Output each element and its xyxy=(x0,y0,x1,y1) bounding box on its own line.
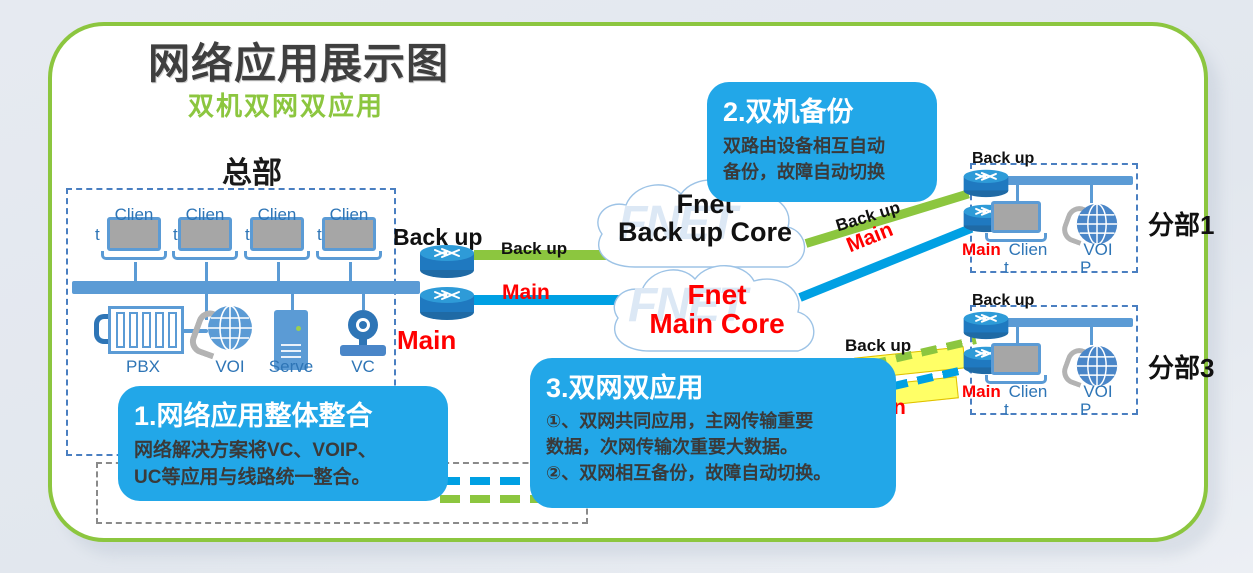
pbx-slot xyxy=(155,312,164,348)
hq-client-label-4b: t xyxy=(317,225,337,245)
branch3-client-label2: t xyxy=(1004,400,1024,420)
hq-router-main xyxy=(418,285,476,319)
branch3-router-backup-label: Back up xyxy=(972,292,1034,310)
globe-svg xyxy=(206,304,254,352)
hq-client-label-1: Clien xyxy=(101,205,167,225)
router-svg xyxy=(962,310,1010,340)
device-droplink xyxy=(291,294,294,310)
page-subtitle: 双机双网双应用 xyxy=(188,86,384,123)
branch3-backup-link-label: Back up xyxy=(845,336,911,356)
page-title: 网络应用展示图 xyxy=(148,30,449,91)
callout-3-body-line-1: ①、双网共同应用，主网传输重要 xyxy=(546,407,880,433)
client-droplink xyxy=(205,262,208,282)
server-line xyxy=(281,344,301,346)
client-label-line1: Clien xyxy=(330,205,369,224)
callout-1-body-line-2: UC等应用与线路统一整合。 xyxy=(134,462,432,489)
diagram-canvas: 网络应用展示图 双机双网双应用 总部 Clien t Clien t Clien… xyxy=(0,0,1253,573)
branch3-voip-label: VOI xyxy=(1070,382,1126,402)
hq-client-label-3b: t xyxy=(245,225,265,245)
voip-label-line1: VOI xyxy=(1083,382,1112,401)
branch1-voip-label: VOI xyxy=(1070,240,1126,260)
server-line xyxy=(281,350,301,352)
pbx-handset-icon xyxy=(94,314,108,344)
client-label-line1: Clien xyxy=(1009,240,1048,259)
hq-client-label-3: Clien xyxy=(244,205,310,225)
callout-1[interactable]: 1.网络应用整体整合 网络解决方案将VC、VOIP、 UC等应用与线路统一整合。 xyxy=(118,386,448,501)
camera-lens-inner xyxy=(359,321,367,329)
client-label-line2: t xyxy=(317,225,322,244)
client-label-line2: t xyxy=(1004,400,1009,419)
client-droplink xyxy=(277,262,280,282)
client-label-line1: Clien xyxy=(1009,382,1048,401)
branch3-voip-droplink xyxy=(1090,327,1093,345)
client-droplink xyxy=(349,262,352,282)
callout-3[interactable]: 3.双网双应用 ①、双网共同应用，主网传输重要 数据，次网传输次重要大数据。 ②… xyxy=(530,358,896,508)
hq-client-label-2: Clien xyxy=(172,205,238,225)
client-label-line1: Clien xyxy=(115,205,154,224)
router-svg xyxy=(418,285,476,321)
branch1-client-label2: t xyxy=(1004,258,1024,278)
hq-device-label-vc: VC xyxy=(328,357,398,377)
laptop-screen xyxy=(991,201,1041,233)
client-label-line2: t xyxy=(95,225,100,244)
hq-client-label-2b: t xyxy=(173,225,193,245)
branch3-title: 分部3 xyxy=(1148,348,1214,385)
client-label-line2: t xyxy=(1004,258,1009,277)
branch3-client-laptop xyxy=(985,343,1047,387)
headquarters-title: 总部 xyxy=(222,148,282,192)
headquarters-lan-bar xyxy=(72,281,420,294)
callout-2-body-line-2: 备份，故障自动切换 xyxy=(723,158,921,184)
branch1-router-backup-label: Back up xyxy=(972,150,1034,168)
pbx-slot xyxy=(168,312,177,348)
pbx-slot xyxy=(116,312,125,348)
laptop-base xyxy=(101,251,167,260)
camera-base xyxy=(340,345,386,356)
hq-backup-link-label: Back up xyxy=(501,239,567,259)
branch1-client-laptop xyxy=(985,201,1047,245)
callout-1-heading: 1.网络应用整体整合 xyxy=(134,394,432,433)
client-label-line2: t xyxy=(173,225,178,244)
router-svg xyxy=(418,243,476,279)
laptop-base xyxy=(244,251,310,260)
client-label-line2: t xyxy=(245,225,250,244)
hq-client-label-1b: t xyxy=(95,225,115,245)
cloud-label-line2: Main Core xyxy=(598,309,836,338)
voip-label-line1: VOI xyxy=(1083,240,1112,259)
pbx-slot xyxy=(129,312,138,348)
vc-camera-icon xyxy=(340,310,386,358)
branch1-voip-label2: P xyxy=(1080,258,1100,278)
device-droplink xyxy=(362,294,365,310)
laptop-base xyxy=(316,251,382,260)
router-svg xyxy=(962,168,1010,198)
callout-3-body-line-2: 数据，次网传输次重要大数据。 xyxy=(546,433,880,459)
hq-client-label-4: Clien xyxy=(316,205,382,225)
branch1-client-label: Clien xyxy=(1000,240,1056,260)
branch3-voip-label2: P xyxy=(1080,400,1100,420)
voip-globe-icon xyxy=(206,304,254,352)
callout-2-body-line-1: 双路由设备相互自动 xyxy=(723,132,921,158)
voip-label-line2: P xyxy=(1080,258,1091,277)
voip-label-line2: P xyxy=(1080,400,1091,419)
cloud-main-core-label: Fnet Main Core xyxy=(598,280,836,339)
callout-3-heading: 3.双网双应用 xyxy=(546,366,880,405)
hq-main-link-label: Main xyxy=(502,281,550,305)
branch3-client-label: Clien xyxy=(1000,382,1056,402)
pbx-slot xyxy=(142,312,151,348)
client-label-line1: Clien xyxy=(258,205,297,224)
branch3-router-backup xyxy=(962,310,1010,340)
hq-device-label-voip: VOI xyxy=(195,357,265,377)
pbx-icon xyxy=(94,306,184,354)
server-led xyxy=(296,326,301,331)
branch1-title: 分部1 xyxy=(1148,205,1214,242)
hq-router-backup xyxy=(418,243,476,277)
laptop-screen xyxy=(991,343,1041,375)
callout-1-body-line-1: 网络解决方案将VC、VOIP、 xyxy=(134,435,432,462)
client-label-line1: Clien xyxy=(186,205,225,224)
branch1-voip-droplink xyxy=(1090,185,1093,203)
branch1-router-backup xyxy=(962,168,1010,198)
hq-device-label-server: Serve xyxy=(256,357,326,377)
callout-3-body-line-3: ②、双网相互备份，故障自动切换。 xyxy=(546,459,880,485)
client-droplink xyxy=(134,262,137,282)
branch1-client-droplink xyxy=(1016,185,1019,201)
laptop-base xyxy=(172,251,238,260)
branch3-client-droplink xyxy=(1016,327,1019,343)
hq-device-label-pbx: PBX xyxy=(108,357,178,377)
callout-2[interactable]: 2.双机备份 双路由设备相互自动 备份，故障自动切换 xyxy=(707,82,937,202)
hq-router-main-label: Main xyxy=(397,325,456,356)
cloud-label-line2: Back up Core xyxy=(580,218,830,246)
callout-2-heading: 2.双机备份 xyxy=(723,90,921,129)
